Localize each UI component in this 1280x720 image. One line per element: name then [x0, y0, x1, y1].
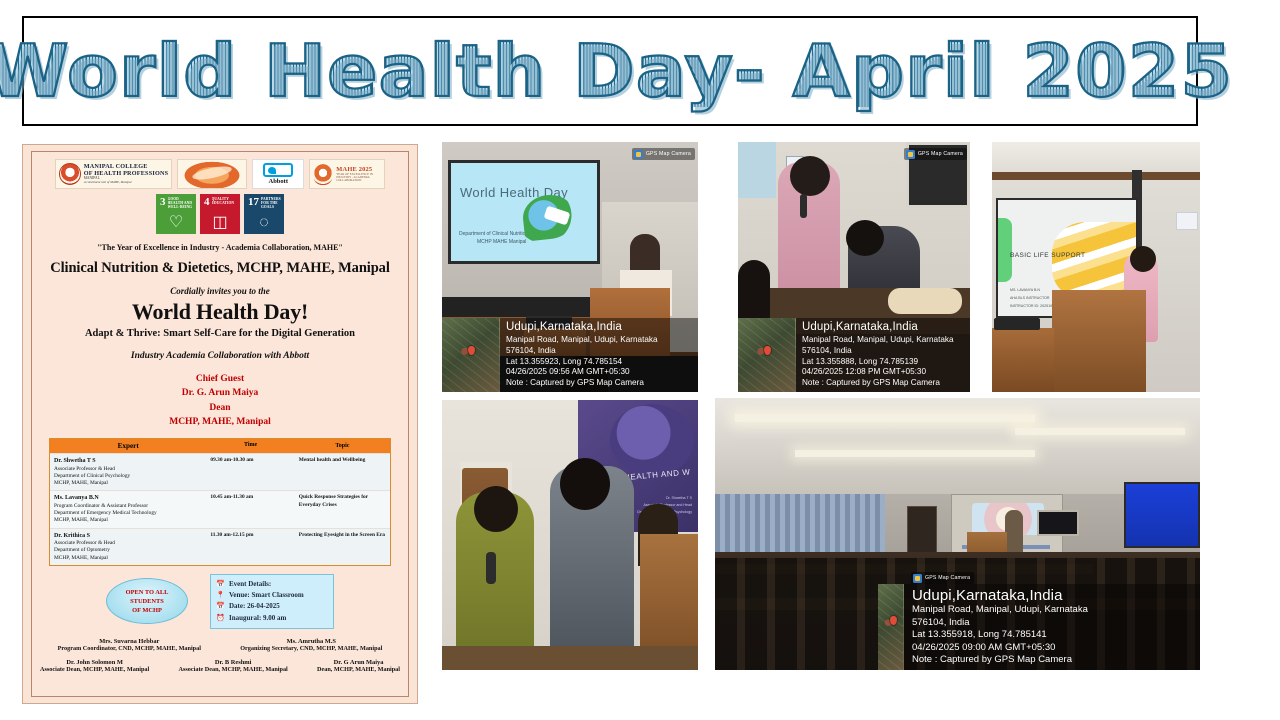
signatory-name: Dr. G Arun Maiya — [317, 659, 400, 666]
ceiling — [715, 398, 1200, 494]
gps-address: Manipal Road, Manipal, Udupi, Karnataka — [912, 604, 1195, 617]
photo-inaugural-podium: World Health Day Department of Clinical … — [442, 142, 698, 392]
signatory: Dr. B Reshmi Associate Dean, MCHP, MAHE,… — [179, 659, 288, 673]
mahe-crest-icon — [313, 163, 333, 185]
table-row: Ms. Lavanya B.N Program Coordinator & As… — [50, 490, 390, 527]
open-badge-line3: OF MCHP — [132, 606, 162, 615]
table-header-row: Expert Time Topic — [50, 439, 390, 453]
chief-guest-name: Dr. G. Arun Maiya — [169, 386, 271, 400]
audience-head — [738, 260, 770, 324]
sdg-17-label: PARTNERSHIPS FOR THE GOALS — [261, 197, 281, 210]
gps-map-thumbnail — [738, 318, 796, 392]
sdg-17-icon: 17 PARTNERSHIPS FOR THE GOALS ◌ — [244, 194, 284, 234]
expert-details: Associate Professor & Head Department of… — [54, 466, 130, 486]
abbott-label: Abbott — [269, 178, 289, 185]
gps-city: Udupi,Karnataka,India — [912, 587, 1195, 605]
event-date: Date: 26-04-2025 — [229, 601, 280, 612]
sdg-icon-row: 3 GOOD HEALTH AND WELL-BEING ♡ 4 QUALITY… — [156, 194, 284, 234]
time-cell: 09.30 am-10.30 am — [206, 454, 294, 490]
gps-badge-icon — [906, 150, 915, 159]
poster-industry-line: Industry Academia Collaboration with Abb… — [131, 351, 309, 361]
microphone-icon — [800, 194, 807, 218]
podium — [1052, 290, 1146, 392]
mahe-2025-logo: MAHE 2025 YEAR OF EXCELLENCE IN INDUSTRY… — [309, 159, 385, 189]
college-crest-icon — [59, 163, 81, 185]
sdg-4-icon: 4 QUALITY EDUCATION ◫ — [200, 194, 240, 234]
sdg-3-icon: 3 GOOD HEALTH AND WELL-BEING ♡ — [156, 194, 196, 234]
expert-name: Ms. Lavanya B.N — [54, 494, 202, 502]
topic-cell: Protecting Eyesight in the Screen Era — [295, 529, 390, 565]
gps-badge-label: GPS Map Camera — [918, 151, 963, 157]
gps-badge-label: GPS Map Camera — [646, 151, 691, 157]
column-header-time: Time — [206, 439, 294, 453]
open-badge-line2: STUDENTS — [130, 597, 164, 606]
chief-guest-label: Chief Guest — [169, 372, 271, 386]
gps-city: Udupi,Karnataka,India — [506, 321, 693, 335]
slide-subtitle-1: MS. LAVANYA B.N — [1010, 288, 1040, 292]
chief-guest-affiliation: MCHP, MAHE, Manipal — [169, 415, 271, 429]
expert-name: Dr. Krithica S — [54, 532, 202, 540]
ceiling-light — [735, 414, 1035, 422]
event-venue: Venue: Smart Classroom — [229, 590, 304, 601]
laptop — [994, 318, 1040, 330]
gps-map-camera-badge: GPS Map Camera — [904, 148, 967, 160]
gps-pin: 576104, India — [912, 617, 1195, 630]
signatory-name: Dr. John Solomon M — [40, 659, 149, 666]
slide-subtitle-1: Dr. Shwetha T S — [666, 496, 692, 500]
signatory-name: Ms. Amrutha M.S — [240, 638, 382, 645]
gps-map-thumbnail — [442, 318, 500, 392]
signatory-role: Program Coordinator, CND, MCHP, MAHE, Ma… — [58, 645, 201, 652]
abbott-mark-icon — [263, 163, 293, 177]
table-row: Dr. Shwetha T S Associate Professor & He… — [50, 453, 390, 490]
signatory-role: Organizing Secretary, CND, MCHP, MAHE, M… — [240, 645, 382, 652]
sdg-4-number: 4 — [204, 197, 210, 208]
circles-icon: ◌ — [244, 215, 284, 231]
photo-cpr-demo: GPS Map Camera Udupi,Karnataka,India Man… — [738, 142, 970, 392]
slide-subtitle-2: AHA BLS INSTRUCTOR — [1010, 296, 1049, 300]
gps-badge-icon — [913, 574, 922, 583]
topic-cell: Quick Response Strategies for Everyday C… — [295, 491, 390, 527]
expert-details: Associate Professor & Head Department of… — [54, 540, 115, 560]
time-cell: 11.30 am-12.15 pm — [206, 529, 294, 565]
slide-subtitle-2: MCHP MAHE Manipal — [477, 239, 526, 245]
slide-canvas: World Health Day- April 2025 MANIPAL COL… — [0, 0, 1280, 720]
gps-pin: 576104, India — [802, 346, 965, 357]
sdg-17-number: 17 — [248, 197, 259, 208]
sdg-3-label: GOOD HEALTH AND WELL-BEING — [168, 197, 194, 210]
event-details-box: 📅Event Details: 📍Venue: Smart Classroom … — [210, 574, 334, 629]
signatory-role: Dean, MCHP, MAHE, Manipal — [317, 666, 400, 673]
photo-audience-hall: GPS Map Camera Udupi,Karnataka,India Man… — [715, 398, 1200, 670]
signatory-role: Associate Dean, MCHP, MAHE, Manipal — [40, 666, 149, 673]
open-book-icon: ◫ — [200, 215, 240, 231]
clock-icon: ⏰ — [216, 613, 225, 624]
abbott-logo: Abbott — [252, 159, 304, 189]
gps-address: Manipal Road, Manipal, Udupi, Karnataka — [506, 335, 693, 346]
poster-logo-row: MANIPAL COLLEGE OF HEALTH PROFESSIONS MA… — [38, 159, 402, 189]
gps-overlay: Udupi,Karnataka,India Manipal Road, Mani… — [878, 584, 1200, 670]
food-bowl-icon — [181, 160, 243, 188]
signatory: Mrs. Suvarna Hebbar Program Coordinator,… — [58, 638, 201, 652]
expert-cell: Ms. Lavanya B.N Program Coordinator & As… — [50, 491, 206, 527]
calendar-icon: 📅 — [216, 579, 225, 590]
gps-coords: Lat 13.355923, Long 74.785154 — [506, 357, 693, 368]
date-icon: 📅 — [216, 601, 225, 612]
signatories-block: Mrs. Suvarna Hebbar Program Coordinator,… — [38, 638, 402, 673]
photo-mental-health-session: MENTAL HEALTH AND W Dr. Shwetha T S Asso… — [442, 400, 698, 670]
gps-address: Manipal Road, Manipal, Udupi, Karnataka — [802, 335, 965, 346]
sdg-4-label: QUALITY EDUCATION — [212, 197, 238, 206]
gps-timestamp: 04/26/2025 09:56 AM GMT+05:30 — [506, 367, 693, 378]
gps-note: Note : Captured by GPS Map Camera — [506, 378, 693, 389]
gps-overlay: Udupi,Karnataka,India Manipal Road, Mani… — [442, 318, 698, 392]
schedule-table: Expert Time Topic Dr. Shwetha T S Associ… — [49, 438, 391, 566]
gps-coords: Lat 13.355918, Long 74.785141 — [912, 629, 1195, 642]
secondary-display — [1124, 482, 1200, 548]
heartbeat-icon: ♡ — [156, 215, 196, 231]
event-poster: MANIPAL COLLEGE OF HEALTH PROFESSIONS MA… — [22, 144, 418, 704]
mahe-subtitle: YEAR OF EXCELLENCE IN INDUSTRY - ACADEMI… — [336, 173, 381, 182]
gps-overlay: Udupi,Karnataka,India Manipal Road, Mani… — [738, 318, 970, 392]
expert-name: Dr. Shwetha T S — [54, 457, 202, 465]
sdg-3-number: 3 — [160, 197, 166, 208]
nutrition-society-logo — [177, 159, 247, 189]
column-header-topic: Topic — [295, 439, 390, 453]
slide-title: BASIC LIFE SUPPORT — [1010, 252, 1085, 259]
gps-timestamp: 04/26/2025 09:00 AM GMT+05:30 — [912, 642, 1195, 655]
title-banner: World Health Day- April 2025 — [22, 16, 1198, 126]
signatory-role: Associate Dean, MCHP, MAHE, Manipal — [179, 666, 288, 673]
location-pin-icon: 📍 — [216, 590, 225, 601]
signatory: Ms. Amrutha M.S Organizing Secretary, CN… — [240, 638, 382, 652]
chief-guest-block: Chief Guest Dr. G. Arun Maiya Dean MCHP,… — [169, 372, 271, 429]
gps-pin: 576104, India — [506, 346, 693, 357]
gps-map-camera-badge: GPS Map Camera — [911, 572, 974, 584]
poster-mid-row: OPEN TO ALL STUDENTS OF MCHP 📅Event Deta… — [38, 574, 402, 629]
wall-notice — [1176, 212, 1198, 230]
gps-city: Udupi,Karnataka,India — [802, 321, 965, 335]
time-cell: 10.45 am-11.30 am — [206, 491, 294, 527]
gps-map-camera-badge: GPS Map Camera — [632, 148, 695, 160]
page-title: World Health Day- April 2025 — [0, 35, 1233, 107]
photo-basic-life-support: BASIC LIFE SUPPORT MS. LAVANYA B.N AHA B… — [992, 142, 1200, 392]
poster-tagline: Adapt & Thrive: Smart Self-Care for the … — [85, 328, 355, 339]
gps-note: Note : Captured by GPS Map Camera — [802, 378, 965, 389]
signatory: Dr. John Solomon M Associate Dean, MCHP,… — [40, 659, 149, 673]
gps-badge-label: GPS Map Camera — [925, 575, 970, 581]
open-to-all-badge: OPEN TO ALL STUDENTS OF MCHP — [106, 578, 188, 624]
signatory: Dr. G Arun Maiya Dean, MCHP, MAHE, Manip… — [317, 659, 400, 673]
gps-coords: Lat 13.355888, Long 74.785139 — [802, 357, 965, 368]
table-row: Dr. Krithica S Associate Professor & Hea… — [50, 528, 390, 565]
cpr-manikin — [888, 288, 962, 314]
expert-details: Program Coordinator & Assistant Professo… — [54, 503, 157, 523]
college-name-line4: A constituent unit of MAHE, Manipal — [84, 181, 169, 184]
signatory-name: Dr. B Reshmi — [179, 659, 288, 666]
chief-guest-designation: Dean — [169, 401, 271, 415]
gps-badge-icon — [634, 150, 643, 159]
event-details-heading: Event Details: — [229, 579, 271, 590]
expert-cell: Dr. Shwetha T S Associate Professor & He… — [50, 454, 206, 490]
gps-note: Note : Captured by GPS Map Camera — [912, 654, 1195, 667]
open-badge-line1: OPEN TO ALL — [126, 588, 169, 597]
poster-quote: "The Year of Excellence in Industry - Ac… — [97, 243, 343, 252]
expert-cell: Dr. Krithica S Associate Professor & Hea… — [50, 529, 206, 565]
poster-department: Clinical Nutrition & Dietetics, MCHP, MA… — [50, 260, 390, 277]
ceiling-light — [795, 450, 1035, 457]
event-inaugural-time: Inaugural: 9.00 am — [229, 613, 286, 624]
wall-tv — [1037, 510, 1079, 536]
gps-timestamp: 04/26/2025 12:08 PM GMT+05:30 — [802, 367, 965, 378]
signatory-name: Mrs. Suvarna Hebbar — [58, 638, 201, 645]
gps-map-thumbnail — [878, 584, 904, 670]
topic-cell: Mental health and Wellbeing — [295, 454, 390, 490]
manipal-college-logo: MANIPAL COLLEGE OF HEALTH PROFESSIONS MA… — [55, 159, 173, 189]
column-header-expert: Expert — [50, 439, 206, 453]
poster-invite-line: Cordially invites you to the — [170, 286, 270, 296]
poster-event-name: World Health Day! — [132, 299, 308, 325]
microphone-icon — [486, 552, 496, 584]
ceiling-light — [1015, 428, 1185, 435]
